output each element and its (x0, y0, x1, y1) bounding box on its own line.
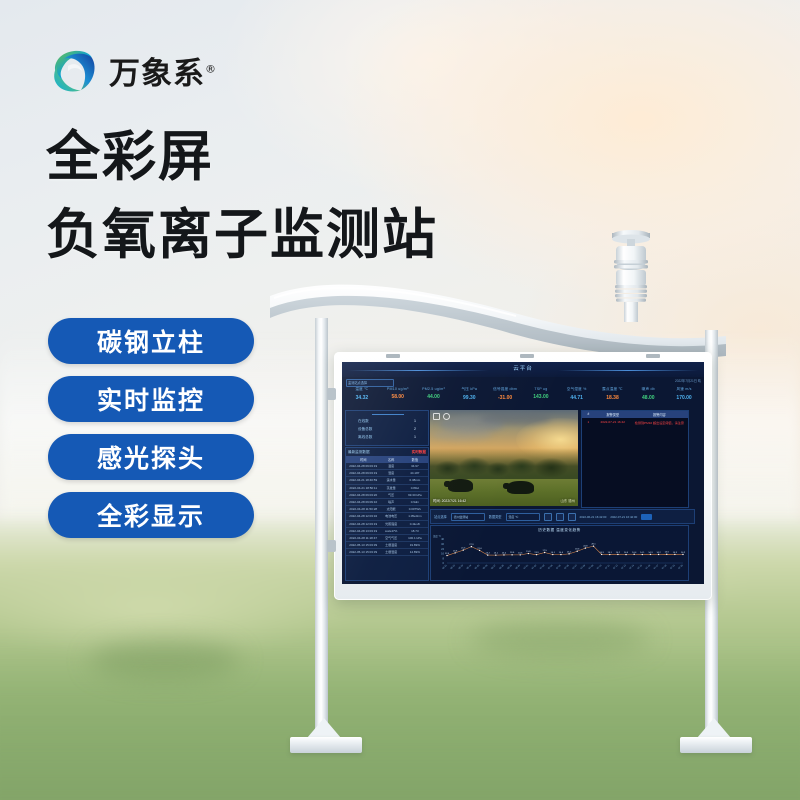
table-title: 最新监测数据 (348, 450, 370, 455)
table-header: 最新监测数据 实时数据 (346, 448, 428, 455)
chart-x-tick: 06-27 (491, 564, 497, 570)
chart-point-label: 21.0 (477, 547, 482, 549)
table-cell: 0.9dm (402, 499, 428, 505)
latest-data-table: 最新监测数据 实时数据 时间 名称 数值 2022-04-28 09:03:19… (345, 447, 429, 581)
chart-point-label: 13.1 (494, 552, 499, 554)
chart-point-label: 14.1 (551, 551, 556, 553)
chart-point-label: 17.5 (543, 549, 548, 551)
chart-control-bar: 站点选择 德州监测站 数据类型 温度 ℃ 2022-06-21 16:42:00… (430, 509, 695, 524)
chart-y-tick: 0 (443, 561, 445, 565)
table-row[interactable]: 2022-05-13 15:03:39土壤湿度14.89% (346, 549, 428, 556)
chart-y-tick: 24 (441, 546, 444, 550)
chart-type-icon[interactable] (556, 513, 564, 521)
table-cell: 2022-04-21 18:40:59 (346, 477, 380, 483)
chart-data-point (471, 545, 472, 546)
snapshot-icon[interactable] (443, 413, 450, 420)
table-column-headers: 时间 名称 数值 (346, 456, 428, 463)
station-select[interactable]: 监测站点选择 (346, 379, 394, 387)
chart-x-tick: 07-01 (524, 564, 530, 570)
control-label-datatype: 数据类型 (489, 514, 502, 519)
chart-data-point (650, 553, 651, 554)
table-cell: 0.4lux/lt (402, 521, 428, 527)
tree-line (430, 448, 578, 481)
table-cell: 温度 (380, 463, 401, 469)
table-cell: 2022-05-13 15:03:39 (346, 542, 380, 548)
frame-tab (386, 354, 400, 358)
date-end: 2022-07-21 16:42:00 (610, 515, 637, 519)
stat-panel-divider (372, 414, 404, 415)
stat-total: 设备总数 2 (346, 427, 428, 432)
chart-x-tick: 06-30 (515, 564, 521, 570)
cattle (448, 479, 473, 491)
chart-point-label: 14.2 (681, 551, 686, 553)
chart-x-tick: 06-28 (499, 564, 505, 570)
table-cell: 土壤湿度 (380, 549, 401, 555)
screen-corner-info: 2022年7月21日 晴 (675, 378, 701, 383)
chart-data-point (633, 553, 634, 554)
chart-point-label: 13.4 (502, 552, 507, 554)
chart-x-tick: 07-05 (556, 564, 562, 570)
live-video-feed[interactable]: 时间: 2022/7/21 16:42 山东 德州 (430, 410, 578, 506)
display-enclosure: 云平台 监测站点选择 2022年7月21日 晴 温度 ℃ 34.32 PM10 … (334, 352, 712, 600)
export-icon[interactable] (568, 513, 576, 521)
chart-x-tick: 06-29 (507, 564, 513, 570)
alarm-cell: 1 (582, 418, 595, 426)
query-button[interactable] (641, 514, 652, 520)
chart-data-point (536, 553, 537, 554)
chart-x-tick: 07-13 (621, 564, 627, 570)
table-row[interactable]: 2022-04-28 09:09:10噪声0.9dm (346, 499, 428, 506)
metric-signal: 信号强度 dbm -31.00 (487, 387, 523, 407)
table-row[interactable]: 2022-04-28 09:03:19湿度44.187 (346, 470, 428, 477)
stat-offline: 离线总数 1 (346, 435, 428, 440)
table-cell: 2022-04-28 12:03:32 (346, 513, 380, 519)
chart-data-point (682, 553, 683, 554)
chart-point-label: 14.1 (640, 551, 645, 553)
chart-point-label: 14.2 (656, 551, 661, 553)
table-cell: 电池电压 (380, 513, 401, 519)
chart-point-label: 24.8 (583, 545, 588, 547)
chart-x-tick: 07-02 (532, 564, 538, 570)
frame-tab (520, 354, 534, 358)
table-cell: 露水量 (380, 477, 401, 483)
chart-x-tick: 07-07 (572, 564, 578, 570)
table-row[interactable]: 2022-04-28 09:03:20气压99.30 kPa (346, 492, 428, 499)
led-screen[interactable]: 云平台 监测站点选择 2022年7月21日 晴 温度 ℃ 34.32 PM10 … (342, 362, 704, 584)
table-row[interactable]: 2022-04-28 12:03:19光照强度0.4lux/lt (346, 521, 428, 528)
table-cell: 19.89% (402, 542, 428, 548)
chart-point-label: 14.2 (616, 551, 621, 553)
table-cell: 噪声 (380, 499, 401, 505)
history-chart: 历史数据 温度变化趋势 0816243240温度 ℃12.406-2116.80… (430, 525, 689, 581)
chart-y-label: 温度 ℃ (433, 534, 441, 538)
platform-title: 云平台 (342, 364, 704, 372)
chart-canvas: 0816243240温度 ℃12.406-2116.806-2221.506-2… (431, 533, 688, 577)
station-dropdown[interactable]: 德州监测站 (451, 513, 485, 521)
alarm-cell: 检测到PM10 超出设定阈值，请注意 (631, 418, 688, 426)
datatype-dropdown[interactable]: 温度 ℃ (506, 513, 540, 521)
table-cell: 2022-04-28 09:09:10 (346, 499, 380, 505)
chart-x-tick: 07-10 (597, 564, 603, 570)
table-cell: 2022-04-28 11:50:28 (346, 506, 380, 512)
chart-x-tick: 07-12 (613, 564, 619, 570)
station-select-value: 监测站点选择 (348, 380, 367, 385)
chart-x-tick: 06-22 (450, 564, 456, 570)
table-cell: 34.97 (402, 463, 428, 469)
video-timestamp: 时间: 2022/7/21 16:42 (433, 498, 466, 503)
metric-noise: 噪声 db 48.00 (630, 387, 666, 407)
alarm-row[interactable]: 12022-07-21 16:42检测到PM10 超出设定阈值，请注意 (582, 418, 688, 426)
carbon-steel-post-left (315, 318, 328, 738)
chart-x-tick: 06-24 (467, 564, 473, 570)
table-cell: 空气气压 (380, 535, 401, 541)
metric-strip: 温度 ℃ 34.32 PM10 ug/m³ 58.00 PM2.5 ug/m³ … (344, 387, 702, 407)
table-cell: 2022-04-28 13:03:19 (346, 528, 380, 534)
chart-x-tick: 07-03 (540, 564, 546, 570)
table-row[interactable]: 2022-04-28 11:50:28太阳能0.00752v (346, 506, 428, 513)
metric-dewpoint: 露点温度 ℃ 18.38 (595, 387, 631, 407)
alarm-body: 12022-07-21 16:42检测到PM10 超出设定阈值，请注意 (582, 418, 688, 426)
chart-data-point (544, 551, 545, 552)
table-cell: 18.73 (402, 528, 428, 534)
chart-data-point (617, 553, 618, 554)
metric-windspeed: 风速 m/s 170.00 (666, 387, 702, 407)
chart-x-tick: 07-18 (662, 564, 668, 570)
table-cell: 2022-04-28 09:03:19 (346, 463, 380, 469)
chart-y-tick: 8 (443, 556, 445, 560)
table-cell: 0.00752v (402, 506, 428, 512)
chart-point-label: 15.8 (526, 550, 531, 552)
chart-point-label: 13.6 (510, 552, 515, 554)
chart-y-tick: 32 (441, 542, 444, 546)
chart-point-label: 27.3 (469, 544, 474, 546)
chart-data-point (511, 554, 512, 555)
table-row[interactable]: 2022-05-13 15:03:39土壤温度19.89% (346, 542, 428, 549)
alarm-panel: # 报警类型 报警内容 12022-07-21 16:42检测到PM10 超出设… (581, 410, 689, 508)
chart-data-point (503, 554, 504, 555)
ultrasonic-weather-sensor-icon (600, 222, 662, 322)
chart-x-tick: 07-11 (605, 564, 611, 570)
cattle (507, 481, 534, 493)
monitoring-station-structure: 云平台 监测站点选择 2022年7月21日 晴 温度 ℃ 34.32 PM10 … (0, 0, 800, 800)
chart-data-point (585, 547, 586, 548)
chart-data-point (568, 553, 569, 554)
chart-data-point (479, 549, 480, 550)
chart-data-point (674, 553, 675, 554)
table-cell: 光照强度 (380, 521, 401, 527)
table-cell: 2022-04-28 09:03:19 (346, 470, 380, 476)
stat-online: 在线数 1 (346, 419, 428, 424)
control-label-station: 站点选择 (434, 514, 447, 519)
video-control-icons[interactable] (433, 413, 450, 420)
chart-data-point (528, 552, 529, 553)
chart-data-point (552, 553, 553, 554)
chart-data-point (487, 554, 488, 555)
mount-bracket (327, 388, 336, 400)
table-cell: 100.1 kPa (402, 535, 428, 541)
chart-data-point (666, 553, 667, 554)
chart-data-point (609, 553, 610, 554)
table-row[interactable]: 2022-04-21 18:40:59露水量0.38mm (346, 477, 428, 484)
chart-data-point (446, 554, 447, 555)
chart-point-label: 13.5 (518, 552, 523, 554)
table-cell: 99.30 kPa (402, 492, 428, 498)
cloud (433, 429, 492, 441)
table-cell: 气压 (380, 492, 401, 498)
table-cell: 2022-05-13 15:03:39 (346, 549, 380, 555)
product-banner: 万象系® 全彩屏 负氧离子监测站 碳钢立柱 实时监控 感光探头 全彩显示 (0, 0, 800, 800)
chart-y-tick: 40 (441, 537, 444, 541)
chart-point-label: 14.0 (559, 552, 564, 554)
table-row[interactable]: 2022-04-28 09:03:19温度34.97 (346, 463, 428, 470)
table-cell: 14.89% (402, 549, 428, 555)
chart-x-tick: 07-06 (564, 564, 570, 570)
table-cell: 蒸发量 (380, 485, 401, 491)
chart-data-point (601, 553, 602, 554)
chart-data-point (625, 553, 626, 554)
chart-point-label: 14.3 (673, 551, 678, 553)
chart-x-tick: 07-14 (629, 564, 635, 570)
chart-x-tick: 07-04 (548, 564, 554, 570)
chart-data-point (593, 545, 594, 546)
device-stat-panel: 在线数 1 设备总数 2 离线总数 1 (345, 410, 429, 446)
table-cell: 2022-04-21 18:50:11 (346, 485, 380, 491)
chart-data-point (495, 554, 496, 555)
chart-data-point (642, 553, 643, 554)
chart-x-tick: 07-09 (589, 564, 595, 570)
realtime-badge: 实时数据 (412, 450, 426, 455)
date-start: 2022-06-21 16:42:00 (580, 515, 607, 519)
table-body: 2022-04-28 09:03:19温度34.972022-04-28 09:… (346, 463, 428, 556)
alarm-cell: 2022-07-21 16:42 (595, 418, 631, 426)
table-row[interactable]: 2022-04-28 11:18:47空气气压100.1 kPa (346, 535, 428, 542)
table-cell: 1.05e0nm (402, 513, 428, 519)
chart-x-tick: 07-16 (646, 564, 652, 570)
chart-point-label: 14.3 (599, 551, 604, 553)
chart-data-point (577, 550, 578, 551)
table-cell: 太阳能 (380, 506, 401, 512)
chart-point-label: 14.0 (624, 552, 629, 554)
fullscreen-icon[interactable] (433, 413, 440, 420)
chart-x-tick: 06-26 (483, 564, 489, 570)
table-cell: 湿度 (380, 470, 401, 476)
metric-pm10: PM10 ug/m³ 58.00 (380, 387, 416, 407)
chart-point-label: 13.9 (534, 552, 539, 554)
table-row[interactable]: 2022-04-28 13:03:19co2e47%18.73 (346, 528, 428, 535)
view-toggle-icon[interactable] (544, 513, 552, 521)
chart-x-tick: 07-19 (670, 564, 676, 570)
table-cell: 0.89ul (402, 485, 428, 491)
table-cell: 44.187 (402, 470, 428, 476)
chart-x-tick: 06-25 (475, 564, 481, 570)
table-row[interactable]: 2022-04-28 12:03:32电池电压1.05e0nm (346, 513, 428, 520)
table-row[interactable]: 2022-04-21 18:50:11蒸发量0.89ul (346, 485, 428, 492)
chart-data-point (658, 553, 659, 554)
chart-x-tick: 06-23 (458, 564, 464, 570)
chart-x-tick: 07-17 (654, 564, 660, 570)
chart-point-label: 14.1 (608, 551, 613, 553)
table-cell: 2022-04-28 12:03:19 (346, 521, 380, 527)
chart-point-label: 14.4 (632, 551, 637, 553)
chart-data-point (463, 549, 464, 550)
table-cell: 土壤温度 (380, 542, 401, 548)
metric-pressure: 气压 kPa 99.30 (451, 387, 487, 407)
chart-point-label: 14.5 (665, 551, 670, 553)
video-watermark: 山东 德州 (560, 498, 575, 503)
table-cell: co2e47% (380, 528, 401, 534)
chart-point-label: 13.2 (486, 552, 491, 554)
chart-point-label: 14.3 (648, 551, 653, 553)
frame-tab (646, 354, 660, 358)
metric-pm25: PM2.5 ug/m³ 44.00 (416, 387, 452, 407)
chart-data-point (560, 553, 561, 554)
alarm-column-headers: # 报警类型 报警内容 (582, 411, 688, 418)
metric-humidity: 空气湿度 % 44.71 (559, 387, 595, 407)
metric-temperature: 温度 ℃ 34.32 (344, 387, 380, 407)
mount-bracket (327, 540, 336, 552)
table-cell: 2022-04-28 09:03:20 (346, 492, 380, 498)
chart-data-point (454, 552, 455, 553)
chart-point-label: 28.1 (591, 543, 596, 545)
chart-x-tick: 07-20 (678, 564, 684, 570)
metric-tsp: TSP ug 143.00 (523, 387, 559, 407)
chart-x-tick: 07-15 (637, 564, 643, 570)
table-cell: 2022-04-28 11:18:47 (346, 535, 380, 541)
chart-data-point (520, 554, 521, 555)
chart-x-tick: 07-08 (581, 564, 587, 570)
table-cell: 0.38mm (402, 477, 428, 483)
